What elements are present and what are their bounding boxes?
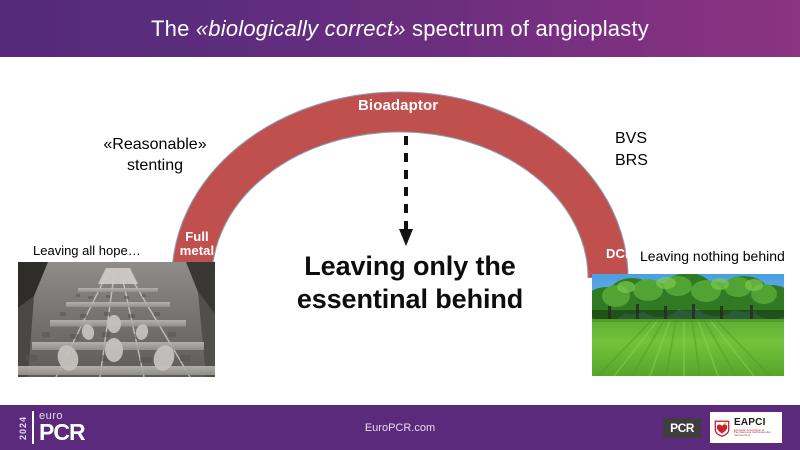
page-title-pre: The — [151, 16, 196, 41]
photo-green-lawn — [592, 274, 784, 376]
arc-label-full-metal-line2: metal — [175, 244, 219, 258]
heart-icon — [713, 419, 731, 437]
annotation-reasonable-line1: «Reasonable» — [90, 134, 220, 155]
europcr-logo: 2024 euro PCR — [16, 409, 98, 446]
annotation-bvs: BVS — [615, 128, 648, 150]
annotation-bvs-brs: BVS BRS — [615, 128, 648, 171]
slide-title-bar: The «biologically correct» spectrum of a… — [0, 0, 800, 57]
europcr-logo-words: euro PCR — [39, 409, 85, 446]
europcr-logo-pcr: PCR — [39, 422, 85, 444]
eapci-text: EAPCI European Association of Percutaneo… — [734, 418, 779, 438]
europcr-logo-divider — [32, 411, 34, 444]
arc-label-dcb: DCB — [606, 247, 634, 261]
annotation-reasonable-line2: stenting — [90, 155, 220, 176]
eapci-badge: EAPCI European Association of Percutaneo… — [710, 412, 782, 443]
page-title-post: spectrum of angioplasty — [406, 16, 649, 41]
center-message-line1: Leaving only the — [250, 250, 570, 283]
annotation-leaving-nothing-behind: Leaving nothing behind — [640, 248, 785, 264]
photo-cobblestone-road — [18, 262, 215, 377]
slide: The «biologically correct» spectrum of a… — [0, 0, 800, 450]
center-message: Leaving only the essentinal behind — [250, 250, 570, 316]
annotation-brs: BRS — [615, 150, 648, 172]
page-title: The «biologically correct» spectrum of a… — [151, 16, 649, 42]
arc-label-full-metal-line1: Full — [175, 230, 219, 244]
eapci-subtitle: European Association of Percutaneous Car… — [734, 430, 779, 438]
down-dashed-arrow-icon — [390, 136, 424, 253]
europcr-logo-year: 2024 — [16, 409, 30, 446]
pcr-badge: PCR — [663, 418, 701, 438]
arc-label-full-metal: Full metal — [175, 230, 219, 258]
annotation-leaving-all-hope: Leaving all hope… — [33, 243, 141, 258]
center-message-line2: essentinal behind — [250, 283, 570, 316]
annotation-reasonable-stenting: «Reasonable» stenting — [90, 134, 220, 176]
page-title-emphasis: «biologically correct» — [196, 16, 406, 41]
eapci-name: EAPCI — [734, 418, 779, 428]
arc-label-bioadaptor: Bioadaptor — [358, 98, 438, 114]
